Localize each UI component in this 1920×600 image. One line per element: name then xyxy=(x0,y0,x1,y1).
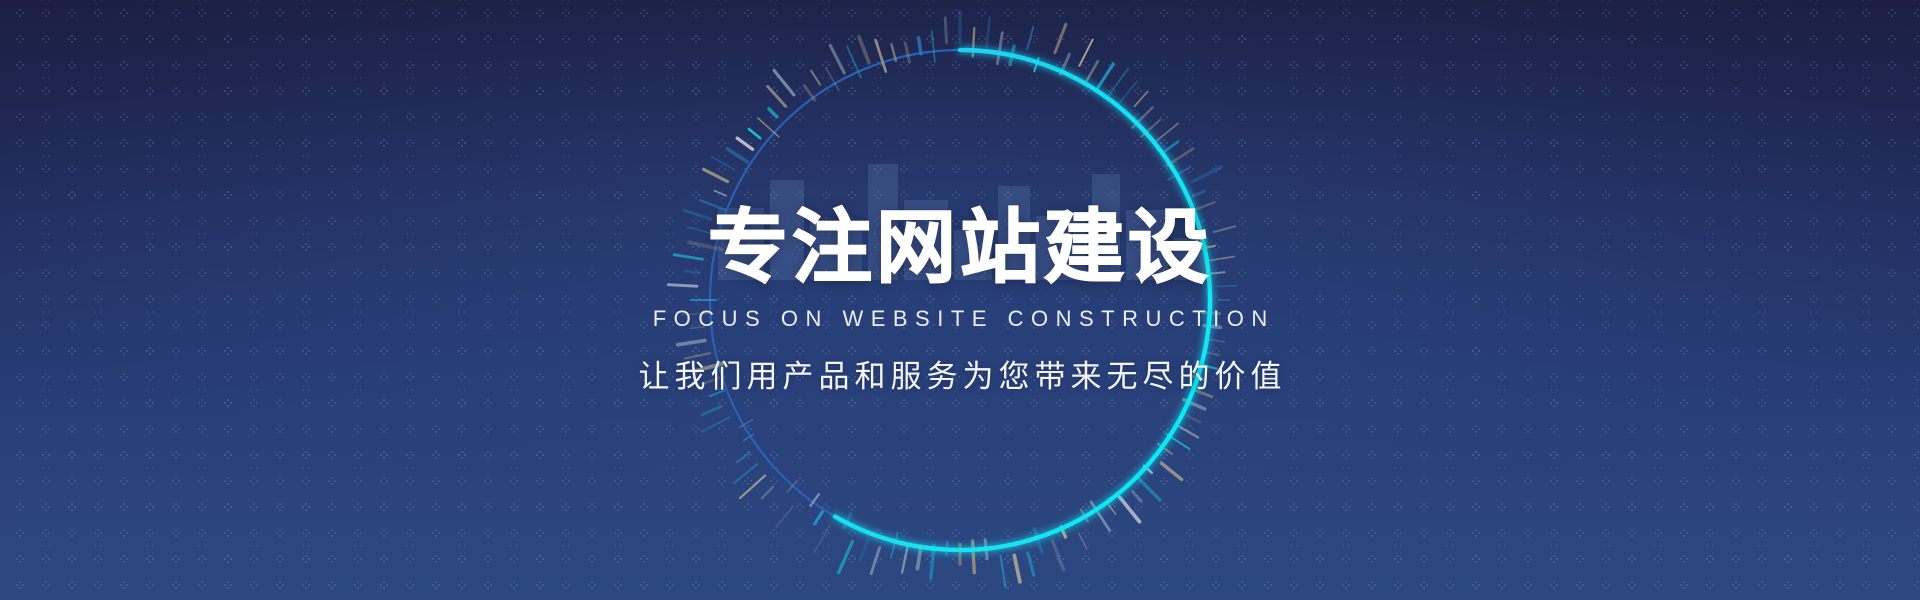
hero-banner: 专注网站建设 FOCUS ON WEBSITE CONSTRUCTION 让我们… xyxy=(0,0,1920,600)
page-title: 专注网站建设 xyxy=(708,208,1212,288)
hero-copy-block: 专注网站建设 FOCUS ON WEBSITE CONSTRUCTION 让我们… xyxy=(0,0,1920,600)
page-tagline: 让我们用产品和服务为您带来无尽的价值 xyxy=(634,362,1287,393)
page-subtitle-english: FOCUS ON WEBSITE CONSTRUCTION xyxy=(645,308,1275,330)
